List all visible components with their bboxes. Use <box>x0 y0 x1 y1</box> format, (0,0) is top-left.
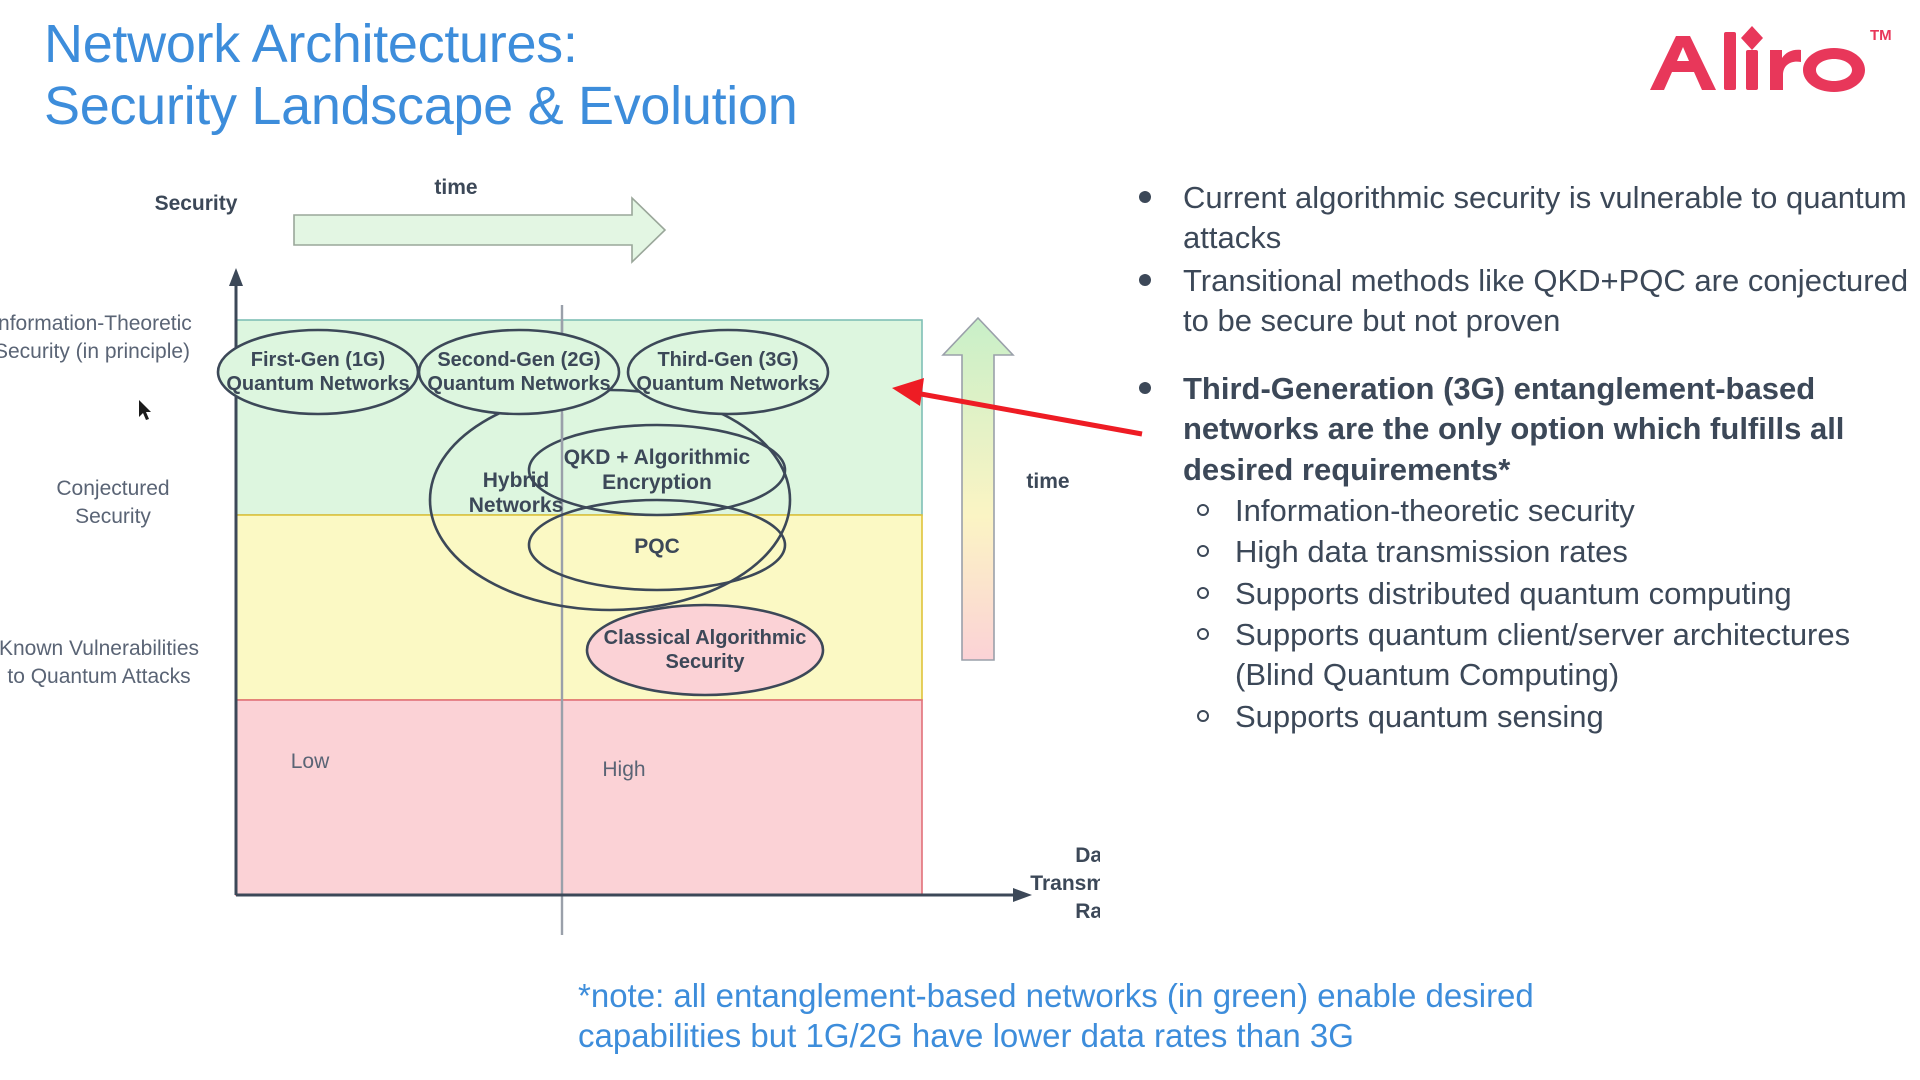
svg-text:Security (in principle): Security (in principle) <box>0 340 190 363</box>
sub-bullet-list: Information-theoretic security High data… <box>1183 491 1915 737</box>
sub-bullet-item-1: Information-theoretic security <box>1183 491 1915 531</box>
node-second-gen-ellipse <box>419 330 619 414</box>
x-axis-arrowhead <box>1013 888 1032 902</box>
sub-bullet-text: Supports distributed quantum computing <box>1235 576 1792 611</box>
sub-bullet-ring-icon <box>1197 504 1209 516</box>
svg-text:First-Gen (1G): First-Gen (1G) <box>251 349 385 371</box>
bullet-text: Transitional methods like QKD+PQC are co… <box>1183 263 1908 338</box>
band-label-yellow: Conjectured Security <box>56 477 169 528</box>
band-label-green: Information-Theoretic Security (in princ… <box>0 312 192 363</box>
svg-text:Security: Security <box>75 505 151 528</box>
y-axis-label: Security <box>155 192 238 215</box>
sub-bullet-item-4: Supports quantum client/server architect… <box>1183 615 1915 696</box>
svg-text:Transmission: Transmission <box>1030 872 1100 895</box>
y-axis-arrowhead <box>229 268 243 286</box>
sub-bullet-text: Supports quantum client/server architect… <box>1235 617 1850 692</box>
node-first-gen-ellipse <box>218 330 418 414</box>
svg-text:Information-Theoretic: Information-Theoretic <box>0 312 192 335</box>
bullet-list: Current algorithmic security is vulnerab… <box>1125 178 1915 737</box>
svg-text:TM: TM <box>1870 27 1892 44</box>
sub-bullet-ring-icon <box>1197 587 1209 599</box>
bullet-dot-icon <box>1139 191 1151 203</box>
svg-text:Known Vulnerabilities: Known Vulnerabilities <box>0 637 199 660</box>
footnote: *note: all entanglement-based networks (… <box>578 976 1808 1057</box>
node-pqc-label: PQC <box>634 535 680 558</box>
time-label-top: time <box>434 176 477 199</box>
security-landscape-chart: time Security Data Transmission Rate Low <box>0 150 1100 950</box>
svg-text:to Quantum Attacks: to Quantum Attacks <box>7 665 190 688</box>
time-arrow-vertical <box>943 318 1013 660</box>
aliro-logo: TM <box>1646 20 1896 98</box>
svg-text:Quantum Networks: Quantum Networks <box>427 373 610 395</box>
sub-bullet-text: Information-theoretic security <box>1235 493 1635 528</box>
svg-text:Security: Security <box>666 651 746 673</box>
bullet-dot-icon <box>1139 274 1151 286</box>
node-classical-ellipse <box>587 605 823 695</box>
node-third-gen-ellipse <box>628 330 828 414</box>
bullet-item-2: Transitional methods like QKD+PQC are co… <box>1125 261 1915 342</box>
x-axis-label: Data Transmission Rate <box>1030 844 1100 923</box>
time-label-side: time <box>1026 470 1069 493</box>
svg-text:Networks: Networks <box>469 494 564 517</box>
svg-text:Data: Data <box>1075 844 1100 867</box>
x-tick-high: High <box>602 758 645 781</box>
slide: Network Architectures: Security Landscap… <box>0 0 1920 1080</box>
svg-text:Third-Gen (3G): Third-Gen (3G) <box>657 349 798 371</box>
svg-text:Classical Algorithmic: Classical Algorithmic <box>604 627 807 649</box>
sub-bullet-item-5: Supports quantum sensing <box>1183 697 1915 737</box>
svg-text:QKD + Algorithmic: QKD + Algorithmic <box>564 446 751 469</box>
sub-bullet-item-3: Supports distributed quantum computing <box>1183 574 1915 614</box>
svg-text:Rate: Rate <box>1075 900 1100 923</box>
mouse-cursor-icon <box>139 400 155 422</box>
bullet-item-1: Current algorithmic security is vulnerab… <box>1125 178 1915 259</box>
x-tick-low: Low <box>291 750 330 773</box>
bullet-text: Current algorithmic security is vulnerab… <box>1183 180 1907 255</box>
sub-bullet-text: High data transmission rates <box>1235 534 1628 569</box>
bullet-text: Third-Generation (3G) entanglement-based… <box>1183 371 1844 487</box>
bullet-dot-icon <box>1139 382 1151 394</box>
time-arrow-horizontal <box>294 198 665 262</box>
svg-text:Conjectured: Conjectured <box>56 477 169 500</box>
svg-text:Second-Gen (2G): Second-Gen (2G) <box>437 349 600 371</box>
svg-text:Encryption: Encryption <box>602 471 712 494</box>
sub-bullet-ring-icon <box>1197 710 1209 722</box>
svg-text:Quantum Networks: Quantum Networks <box>636 373 819 395</box>
sub-bullet-ring-icon <box>1197 628 1209 640</box>
sub-bullet-item-2: High data transmission rates <box>1183 532 1915 572</box>
sub-bullet-ring-icon <box>1197 545 1209 557</box>
bullet-item-3-highlight: Third-Generation (3G) entanglement-based… <box>1125 369 1915 737</box>
page-title: Network Architectures: Security Landscap… <box>44 14 1144 137</box>
sub-bullet-text: Supports quantum sensing <box>1235 699 1604 734</box>
svg-text:Quantum Networks: Quantum Networks <box>226 373 409 395</box>
bullet-list-panel: Current algorithmic security is vulnerab… <box>1125 178 1915 739</box>
band-label-pink: Known Vulnerabilities to Quantum Attacks <box>0 637 199 688</box>
band-pink <box>236 700 922 895</box>
